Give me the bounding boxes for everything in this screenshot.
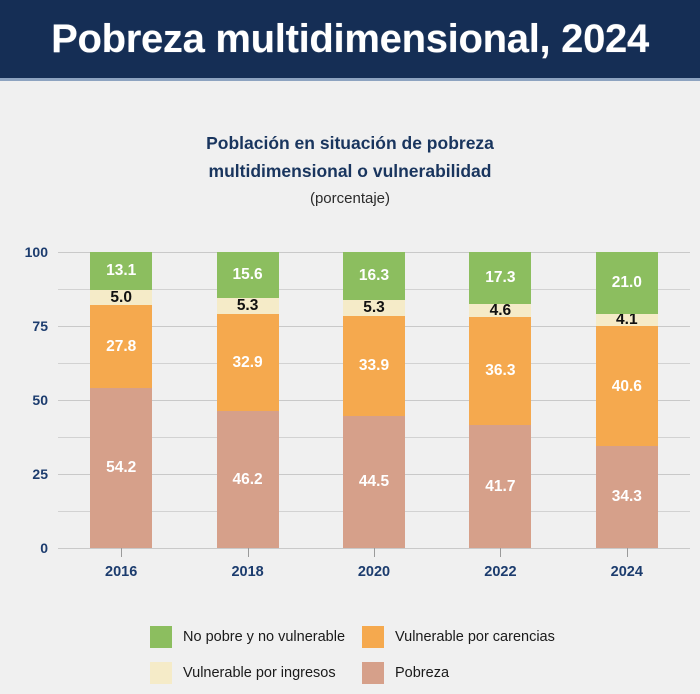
legend-label: Pobreza (395, 665, 449, 681)
bar-value-label: 41.7 (485, 479, 515, 495)
chart-title-block: Población en situación de pobreza multid… (0, 129, 700, 212)
bar-segment[interactable]: 36.3 (469, 317, 531, 424)
bar-segment[interactable]: 27.8 (90, 305, 152, 387)
bar-value-label: 13.1 (106, 263, 136, 279)
chart-title-line-1: Población en situación de pobreza (0, 129, 700, 157)
chart-title-line-2: multidimensional o vulnerabilidad (0, 157, 700, 185)
chart-subtitle: (porcentaje) (0, 186, 700, 212)
bar-group[interactable]: 41.736.34.617.3 (469, 252, 531, 548)
x-axis-tick-mark (248, 548, 249, 557)
bar-segment[interactable]: 44.5 (343, 416, 405, 548)
x-axis-tick-label: 2024 (587, 564, 667, 580)
bar-value-label: 44.5 (359, 474, 389, 490)
bar-group[interactable]: 54.227.85.013.1 (90, 252, 152, 548)
x-axis-tick-mark (374, 548, 375, 557)
bar-value-label: 17.3 (485, 270, 515, 286)
plot-area: 54.227.85.013.146.232.95.315.644.533.95.… (58, 252, 690, 548)
legend-item[interactable]: No pobre y no vulnerable (150, 626, 362, 648)
bar-value-label: 15.6 (233, 267, 263, 283)
bar-segment[interactable]: 15.6 (217, 252, 279, 298)
y-axis: 0255075100 (0, 252, 58, 549)
bar-value-label: 36.3 (485, 363, 515, 379)
y-axis-tick-label: 50 (4, 392, 48, 408)
bar-segment[interactable]: 13.1 (90, 252, 152, 291)
y-axis-tick-label: 75 (4, 318, 48, 334)
bar-value-label: 5.3 (237, 298, 259, 314)
chart-legend: No pobre y no vulnerableVulnerable por c… (150, 626, 580, 684)
bar-segment[interactable]: 17.3 (469, 252, 531, 303)
bar-segment[interactable]: 21.0 (596, 252, 658, 314)
y-axis-tick-label: 100 (4, 244, 48, 260)
bar-value-label: 32.9 (233, 355, 263, 371)
bar-value-label: 54.2 (106, 460, 136, 476)
x-axis-tick-mark (627, 548, 628, 557)
bar-segment[interactable]: 4.6 (469, 304, 531, 318)
x-axis-tick-mark (500, 548, 501, 557)
bar-segment[interactable]: 34.3 (596, 446, 658, 548)
bar-value-label: 16.3 (359, 268, 389, 284)
bar-value-label: 34.3 (612, 489, 642, 505)
legend-swatch-icon (362, 626, 384, 648)
bar-value-label: 5.3 (363, 300, 385, 316)
bar-segment[interactable]: 5.3 (343, 300, 405, 316)
legend-item[interactable]: Vulnerable por ingresos (150, 662, 362, 684)
x-axis-tick-label: 2022 (460, 564, 540, 580)
legend-label: Vulnerable por carencias (395, 629, 555, 645)
bar-value-label: 5.0 (110, 290, 132, 306)
bar-group[interactable]: 44.533.95.316.3 (343, 252, 405, 548)
x-axis-tick-label: 2018 (208, 564, 288, 580)
bar-segment[interactable]: 40.6 (596, 326, 658, 446)
x-axis-tick-label: 2020 (334, 564, 414, 580)
legend-swatch-icon (150, 626, 172, 648)
y-axis-tick-label: 0 (4, 540, 48, 556)
legend-swatch-icon (362, 662, 384, 684)
bar-group[interactable]: 34.340.64.121.0 (596, 252, 658, 548)
bar-segment[interactable]: 54.2 (90, 388, 152, 548)
header-banner: Pobreza multidimensional, 2024 (0, 0, 700, 78)
legend-item[interactable]: Pobreza (362, 662, 574, 684)
bar-group[interactable]: 46.232.95.315.6 (217, 252, 279, 548)
legend-label: Vulnerable por ingresos (183, 665, 336, 681)
bar-value-label: 4.1 (616, 312, 638, 328)
bar-segment[interactable]: 32.9 (217, 314, 279, 411)
bar-value-label: 21.0 (612, 275, 642, 291)
bar-segment[interactable]: 16.3 (343, 252, 405, 300)
bar-segment[interactable]: 41.7 (469, 425, 531, 548)
x-axis: 20162018202020222024 (58, 548, 690, 594)
legend-item[interactable]: Vulnerable por carencias (362, 626, 574, 648)
bar-value-label: 4.6 (490, 303, 512, 319)
y-axis-tick-label: 25 (4, 466, 48, 482)
x-axis-tick-mark (121, 548, 122, 557)
chart-figure: Población en situación de pobreza multid… (0, 81, 700, 694)
bar-value-label: 40.6 (612, 379, 642, 395)
page-title: Pobreza multidimensional, 2024 (51, 17, 649, 62)
bar-segment[interactable]: 4.1 (596, 314, 658, 326)
bar-value-label: 46.2 (233, 472, 263, 488)
x-axis-tick-label: 2016 (81, 564, 161, 580)
legend-swatch-icon (150, 662, 172, 684)
bar-segment[interactable]: 5.3 (217, 298, 279, 314)
bar-value-label: 33.9 (359, 358, 389, 374)
bar-segment[interactable]: 5.0 (90, 290, 152, 305)
bar-segment[interactable]: 46.2 (217, 411, 279, 548)
legend-label: No pobre y no vulnerable (183, 629, 345, 645)
bar-segment[interactable]: 33.9 (343, 316, 405, 416)
bar-value-label: 27.8 (106, 339, 136, 355)
